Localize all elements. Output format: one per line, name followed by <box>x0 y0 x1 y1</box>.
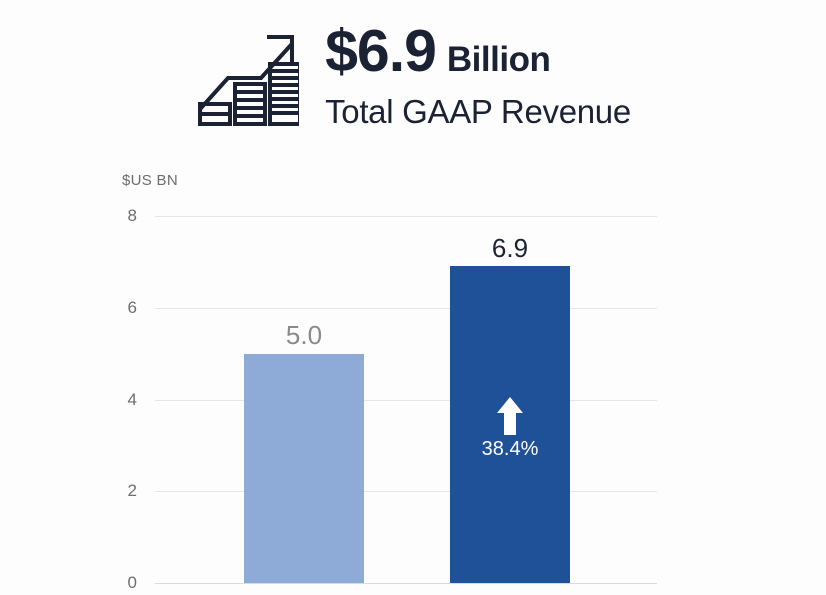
y-axis-tick-6: 6 <box>128 298 137 318</box>
y-axis-tick-8: 8 <box>128 206 137 226</box>
growth-percent-label: 38.4% <box>450 439 570 459</box>
headline: $6.9 Billion <box>325 22 550 81</box>
growth-annotation: 38.4% <box>450 397 570 459</box>
y-axis-tick-4: 4 <box>128 390 137 410</box>
gridline-4: 4 <box>155 400 657 401</box>
gridline-6: 6 <box>155 308 657 309</box>
growth-bar-chart-arrow-icon <box>195 23 299 127</box>
gridline-8: 8 <box>155 216 657 217</box>
bar-previous[interactable] <box>244 354 364 583</box>
headline-unit: Billion <box>447 42 550 77</box>
page-title: Total GAAP Revenue <box>325 95 631 128</box>
header-kpi-banner: $6.9 Billion Total GAAP Revenue <box>0 0 826 150</box>
y-axis-unit-label: $US BN <box>122 172 178 189</box>
gridline-2: 2 <box>155 491 657 492</box>
header-text-block: $6.9 Billion Total GAAP Revenue <box>325 22 631 128</box>
headline-value: $6.9 <box>325 22 436 81</box>
revenue-bar-chart: $US BN 8 6 4 2 0 5.0 6.9 <box>0 150 826 595</box>
y-axis-tick-0: 0 <box>128 573 137 593</box>
bar-group-previous[interactable]: 5.0 <box>244 354 364 583</box>
gridline-0: 0 <box>155 583 657 584</box>
plot-area: 8 6 4 2 0 5.0 6.9 <box>155 216 657 583</box>
bar-value-label-current: 6.9 <box>450 235 570 261</box>
arrow-up-icon <box>450 397 570 435</box>
bar-group-current[interactable]: 6.9 38.4% <box>450 266 570 583</box>
y-axis-tick-2: 2 <box>128 481 137 501</box>
bar-value-label-previous: 5.0 <box>244 322 364 348</box>
